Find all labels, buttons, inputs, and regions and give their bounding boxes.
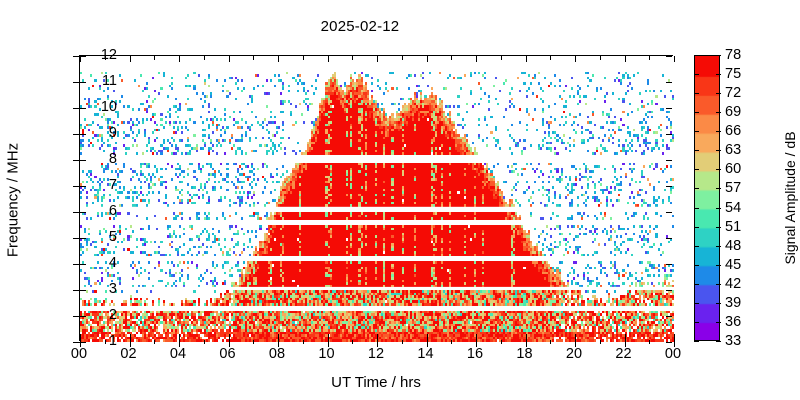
y-tick [73,238,80,239]
colorbar-tick-right [716,341,721,342]
colorbar-tick-label: 60 [725,162,741,177]
x-tick-top [476,56,477,62]
y-tick-inner [80,290,86,291]
y-tick-inner [80,238,86,239]
colorbar-gradient [694,55,720,341]
y-tick-label: 10 [101,100,117,115]
colorbar-tick-label: 48 [725,238,741,253]
x-minor-tick [204,56,205,60]
y-tick-label: 4 [109,256,117,271]
x-minor-tick [402,340,403,344]
y-tick-right [666,134,672,135]
y-tick-label: 9 [109,126,117,141]
y-tick [73,342,80,343]
x-axis-title: UT Time / hrs [79,374,673,391]
x-minor-tick [600,340,601,344]
colorbar-tick-right [716,227,721,228]
colorbar-tick-label: 72 [725,86,741,101]
colorbar-tick-label: 33 [725,334,741,349]
colorbar-tick [694,246,699,247]
colorbar-tick-label: 45 [725,257,741,272]
x-minor-tick [204,340,205,344]
y-tick-label: 1 [109,334,117,349]
x-tick-inner [80,334,81,340]
colorbar-tick-right [716,303,721,304]
colorbar-tick [694,169,699,170]
x-tick-top [278,56,279,62]
y-tick-inner [80,108,86,109]
x-tick-inner [278,334,279,340]
colorbar-tick-right [716,93,721,94]
x-tick-top [674,56,675,62]
y-tick-label: 12 [101,48,117,63]
y-tick [73,56,80,57]
colorbar-tick [694,341,699,342]
y-tick [73,160,80,161]
colorbar-tick-right [716,208,721,209]
x-minor-tick [451,56,452,60]
x-tick-top [575,56,576,62]
x-minor-tick [501,56,502,60]
y-tick [73,82,80,83]
x-tick-inner [328,334,329,340]
colorbar-tick-label: 78 [725,48,741,63]
colorbar-tick [694,227,699,228]
y-tick-right [666,82,672,83]
y-tick-right [666,160,672,161]
x-tick-label: 02 [120,347,136,362]
colorbar-tick-right [716,55,721,56]
x-tick-label: 18 [516,347,532,362]
x-tick-top [80,56,81,62]
y-tick-right [666,342,672,343]
x-tick-top [526,56,527,62]
y-tick [73,316,80,317]
y-tick [73,134,80,135]
x-tick-top [377,56,378,62]
colorbar-title: Signal Amplitude / dB [782,88,798,308]
y-tick-inner [80,316,86,317]
y-tick [73,212,80,213]
y-tick-label: 6 [109,204,117,219]
colorbar-tick-label: 39 [725,296,741,311]
colorbar-tick-right [716,188,721,189]
x-tick-top [130,56,131,62]
x-tick-label: 08 [269,347,285,362]
y-tick-right [666,264,672,265]
colorbar-tick-right [716,246,721,247]
plot-area[interactable] [79,55,673,341]
colorbar-tick [694,284,699,285]
x-minor-tick [501,340,502,344]
x-minor-tick [402,56,403,60]
x-minor-tick [550,340,551,344]
x-minor-tick [649,340,650,344]
x-tick-inner [476,334,477,340]
x-tick-inner [575,334,576,340]
x-tick-inner [625,334,626,340]
colorbar-tick [694,131,699,132]
y-tick-right [666,108,672,109]
x-minor-tick [253,56,254,60]
x-tick-label: 16 [467,347,483,362]
x-tick-label: 00 [665,347,681,362]
colorbar-tick-label: 42 [725,277,741,292]
colorbar-tick-right [716,169,721,170]
colorbar-tick-label: 54 [725,200,741,215]
x-minor-tick [451,340,452,344]
x-minor-tick [352,56,353,60]
y-tick [73,108,80,109]
y-tick-inner [80,160,86,161]
spectrogram-figure: 2025-02-12 12345678910111200020406081012… [0,0,800,400]
colorbar-tick [694,74,699,75]
colorbar-tick [694,112,699,113]
x-tick-label: 20 [566,347,582,362]
colorbar-tick-right [716,322,721,323]
y-tick-label: 8 [109,152,117,167]
y-tick-right [666,56,672,57]
colorbar-tick-label: 57 [725,181,741,196]
y-tick-label: 11 [102,74,117,89]
x-minor-tick [303,56,304,60]
y-tick-label: 7 [109,178,117,193]
y-tick [73,186,80,187]
y-tick-label: 2 [109,308,117,323]
colorbar-tick [694,188,699,189]
spectrogram-canvas[interactable] [80,56,674,342]
colorbar-tick-right [716,112,721,113]
x-tick-label: 10 [318,347,334,362]
x-tick-label: 14 [417,347,433,362]
colorbar-tick-label: 75 [725,67,741,82]
colorbar-tick [694,208,699,209]
x-minor-tick [303,340,304,344]
x-tick-inner [674,334,675,340]
x-tick-label: 06 [219,347,235,362]
colorbar-tick-label: 36 [725,315,741,330]
y-tick-right [666,316,672,317]
y-tick-label: 5 [109,230,117,245]
x-tick-top [625,56,626,62]
colorbar-tick [694,322,699,323]
x-tick-label: 04 [170,347,186,362]
x-tick-inner [130,334,131,340]
x-tick-top [179,56,180,62]
x-tick-top [229,56,230,62]
colorbar-tick-right [716,131,721,132]
colorbar-tick-label: 66 [725,124,741,139]
y-tick-right [666,212,672,213]
x-tick-top [328,56,329,62]
colorbar-tick [694,303,699,304]
x-tick-inner [526,334,527,340]
x-minor-tick [154,56,155,60]
y-tick [73,264,80,265]
x-minor-tick [649,56,650,60]
colorbar-tick-right [716,150,721,151]
y-axis-title: Frequency / MHz [5,90,22,310]
x-tick-inner [427,334,428,340]
x-tick-label: 00 [71,347,87,362]
colorbar-tick-right [716,284,721,285]
x-minor-tick [352,340,353,344]
x-minor-tick [550,56,551,60]
y-tick-right [666,238,672,239]
x-minor-tick [154,340,155,344]
y-tick-right [666,290,672,291]
y-tick-inner [80,212,86,213]
x-tick-inner [377,334,378,340]
y-tick-inner [80,134,86,135]
x-tick-label: 22 [615,347,631,362]
colorbar-tick-label: 63 [725,143,741,158]
y-tick-inner [80,186,86,187]
colorbar-tick [694,93,699,94]
colorbar-tick [694,150,699,151]
x-tick-inner [179,334,180,340]
x-tick-inner [229,334,230,340]
y-tick-inner [80,264,86,265]
x-minor-tick [105,340,106,344]
y-tick-label: 3 [109,282,117,297]
colorbar-tick [694,55,699,56]
x-tick-top [427,56,428,62]
x-minor-tick [253,340,254,344]
colorbar[interactable]: 33363942454851545760636669727578 [694,55,720,341]
y-tick-inner [80,82,86,83]
page-title: 2025-02-12 [0,18,720,35]
colorbar-tick-label: 69 [725,105,741,120]
colorbar-tick-right [716,265,721,266]
colorbar-tick-label: 51 [725,219,741,234]
colorbar-tick-right [716,74,721,75]
x-minor-tick [600,56,601,60]
x-tick-label: 12 [368,347,384,362]
y-tick-right [666,186,672,187]
colorbar-tick [694,265,699,266]
y-tick [73,290,80,291]
